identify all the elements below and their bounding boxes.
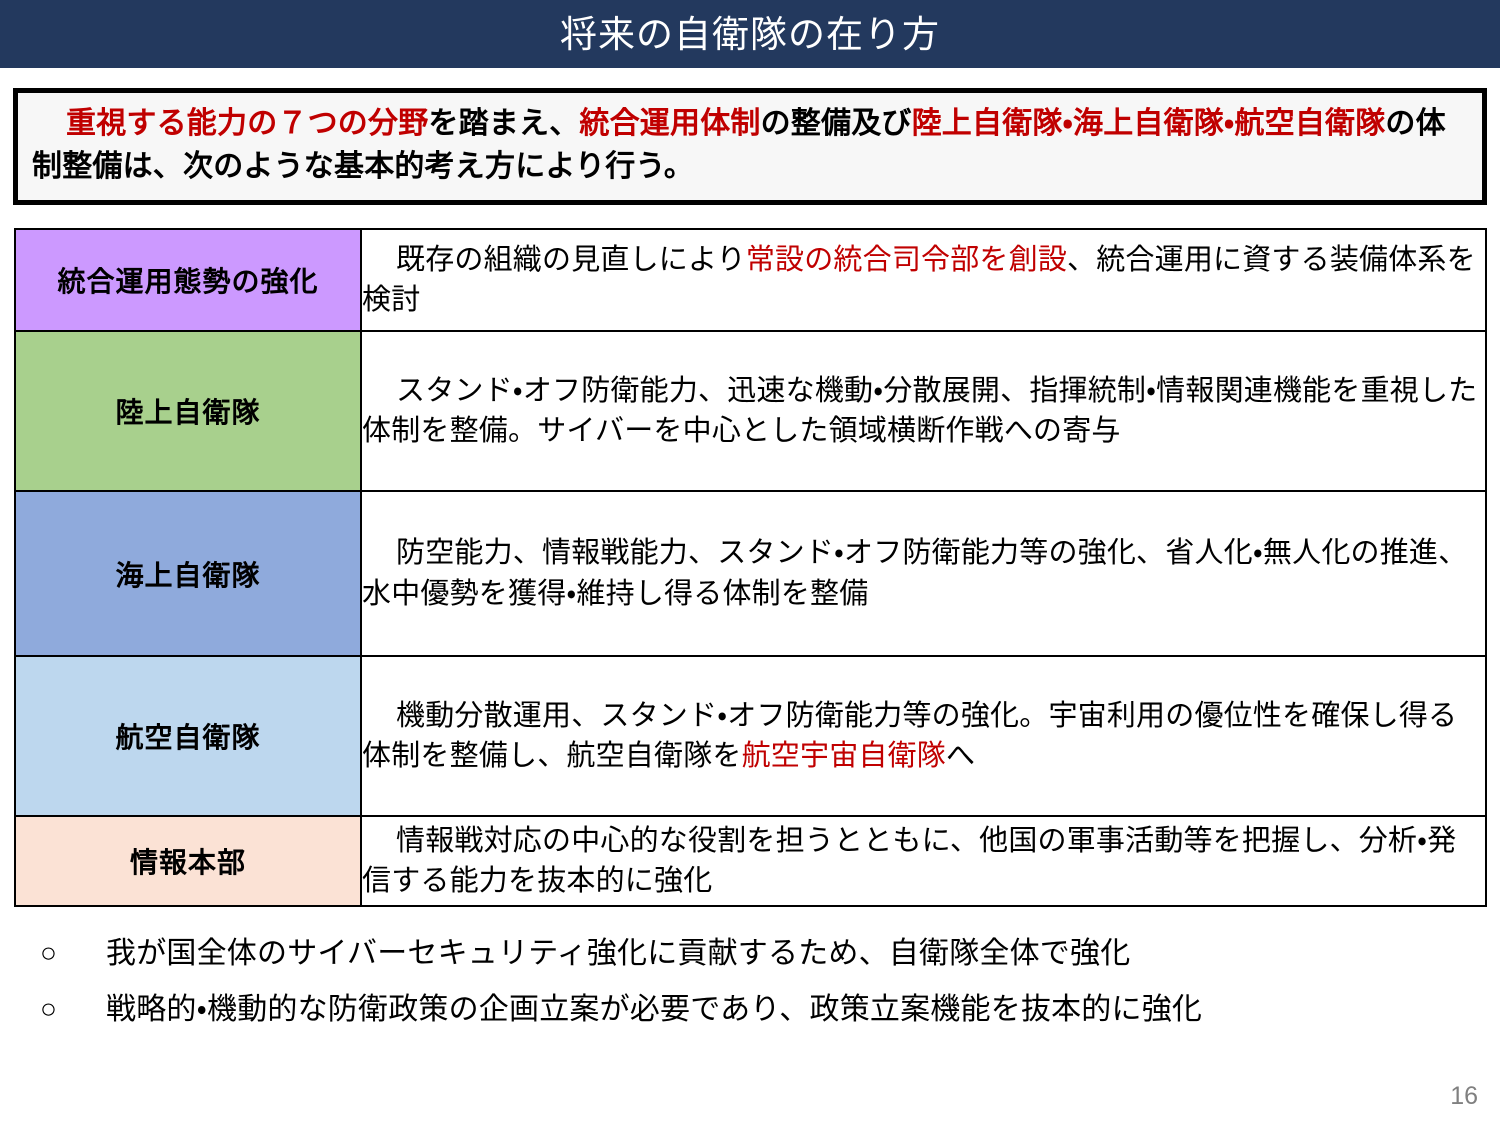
body-text-highlight: 航空宇宙自衛隊 xyxy=(742,740,946,772)
table-row: 統合運用態勢の強化 既存の組織の見直しにより常設の統合司令部を創設、統合運用に資… xyxy=(15,229,1486,331)
intro-plain-1: を踏まえ、 xyxy=(428,107,579,140)
bullet-text-cyber: 我が国全体のサイバーセキュリティ強化に貢献するため、自衛隊全体で強化 xyxy=(106,935,1130,973)
bullet-marker-icon: ○ xyxy=(40,991,106,1026)
bullet-text-policy: 戦略的・機動的な防衛政策の企画立案が必要であり、政策立案機能を抜本的に強化 xyxy=(106,991,1202,1029)
intro-statement-box: 重視する能力の７つの分野を踏まえ、統合運用体制の整備及び陸上自衛隊・海上自衛隊・… xyxy=(13,88,1487,205)
table-row: 海上自衛隊 防空能力、情報戦能力、スタンド・オフ防衛能力等の強化、省人化・無人化… xyxy=(15,491,1486,656)
intro-highlight-services-part2: 航空自衛隊 xyxy=(1234,107,1385,140)
body-text-pre: スタンド・オフ防衛能力、迅速な機動・分散展開、指揮統制・情報関連機能を重視した体… xyxy=(362,375,1477,447)
bullet-marker-icon: ○ xyxy=(40,935,106,970)
body-text-post: へ xyxy=(946,740,975,772)
row-body-intelligence-hq: 情報戦対応の中心的な役割を担うとともに、他国の軍事活動等を把握し、分析・発信する… xyxy=(361,816,1486,906)
future-sdf-structure-table: 統合運用態勢の強化 既存の組織の見直しにより常設の統合司令部を創設、統合運用に資… xyxy=(14,228,1487,907)
table-row: 陸上自衛隊 スタンド・オフ防衛能力、迅速な機動・分散展開、指揮統制・情報関連機能… xyxy=(15,331,1486,491)
intro-plain-2: の整備及び xyxy=(761,107,912,140)
row-label-air-sdf: 航空自衛隊 xyxy=(15,656,361,816)
row-body-ground-sdf: スタンド・オフ防衛能力、迅速な機動・分散展開、指揮統制・情報関連機能を重視した体… xyxy=(361,331,1486,491)
intro-statement-text: 重視する能力の７つの分野を踏まえ、統合運用体制の整備及び陸上自衛隊・海上自衛隊・… xyxy=(32,103,1468,188)
row-body-joint-operations: 既存の組織の見直しにより常設の統合司令部を創設、統合運用に資する装備体系を検討 xyxy=(361,229,1486,331)
row-label-intelligence-hq: 情報本部 xyxy=(15,816,361,906)
body-text-highlight: 常設の統合司令部を創設 xyxy=(746,244,1067,276)
table-row: 情報本部 情報戦対応の中心的な役割を担うとともに、他国の軍事活動等を把握し、分析… xyxy=(15,816,1486,906)
intro-highlight-capabilities: 重視する能力の７つの分野 xyxy=(66,107,428,140)
matrix-table: 統合運用態勢の強化 既存の組織の見直しにより常設の統合司令部を創設、統合運用に資… xyxy=(14,228,1487,907)
page-title: 将来の自衛隊の在り方 xyxy=(560,16,940,53)
page-number: 16 xyxy=(1450,1082,1478,1111)
table-row: 航空自衛隊 機動分散運用、スタンド・オフ防衛能力等の強化。宇宙利用の優位性を確保… xyxy=(15,656,1486,816)
row-body-air-sdf: 機動分散運用、スタンド・オフ防衛能力等の強化。宇宙利用の優位性を確保し得る体制を… xyxy=(361,656,1486,816)
bullet-list: ○ 我が国全体のサイバーセキュリティ強化に貢献するため、自衛隊全体で強化 ○ 戦… xyxy=(40,935,1460,1046)
body-text-pre: 情報戦対応の中心的な役割を担うとともに、他国の軍事活動等を把握し、分析・発信する… xyxy=(362,825,1456,897)
body-text-pre: 防空能力、情報戦能力、スタンド・オフ防衛能力等の強化、省人化・無人化の推進、水中… xyxy=(362,537,1467,609)
row-label-joint-operations: 統合運用態勢の強化 xyxy=(15,229,361,331)
list-item: ○ 戦略的・機動的な防衛政策の企画立案が必要であり、政策立案機能を抜本的に強化 xyxy=(40,991,1460,1029)
body-text-pre: 既存の組織の見直しにより xyxy=(396,244,746,276)
row-label-maritime-sdf: 海上自衛隊 xyxy=(15,491,361,656)
intro-highlight-joint-ops: 統合運用体制 xyxy=(579,107,760,140)
row-label-ground-sdf: 陸上自衛隊 xyxy=(15,331,361,491)
intro-highlight-services-part1: 陸上自衛隊・海上自衛隊・ xyxy=(912,107,1235,140)
row-body-maritime-sdf: 防空能力、情報戦能力、スタンド・オフ防衛能力等の強化、省人化・無人化の推進、水中… xyxy=(361,491,1486,656)
slide-header-bar: 将来の自衛隊の在り方 xyxy=(0,0,1500,68)
list-item: ○ 我が国全体のサイバーセキュリティ強化に貢献するため、自衛隊全体で強化 xyxy=(40,935,1460,973)
